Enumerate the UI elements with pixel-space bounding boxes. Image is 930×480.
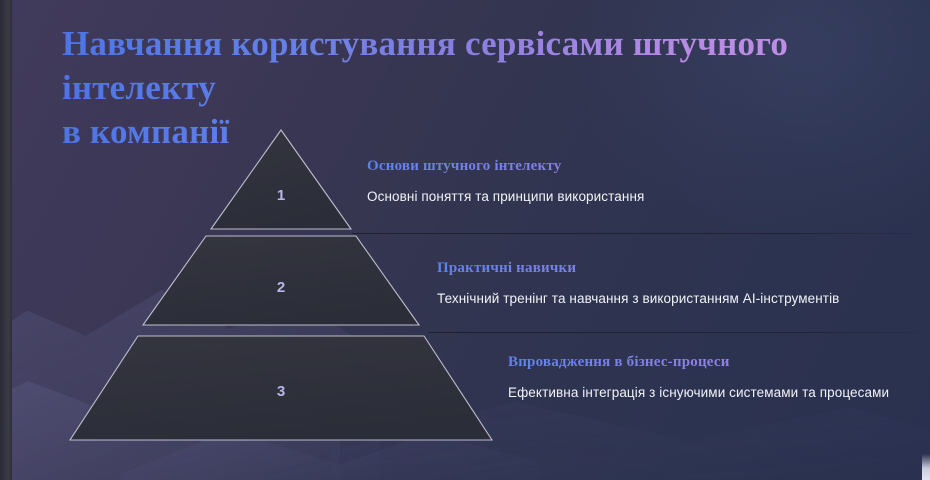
page-title: Навчання користування сервісами штучного… [62, 22, 924, 154]
mountain-silhouette-2 [0, 330, 340, 480]
level-1-text-block: Основи штучного інтелекту Основні понятт… [367, 156, 887, 208]
level-3-body: Ефективна інтеграція з існуючими система… [508, 382, 908, 404]
divider-level-1 [352, 233, 918, 234]
pyramid-tier-3-number: 3 [277, 383, 285, 400]
mountain-silhouette-1 [0, 260, 380, 480]
level-3-heading: Впровадження в бізнес-процеси [508, 352, 908, 372]
window-frame-bottom-right-corner [922, 454, 930, 480]
level-3-text-block: Впровадження в бізнес-процеси Ефективна … [508, 352, 908, 404]
pyramid-tier-1-number: 1 [277, 187, 285, 204]
level-1-heading: Основи штучного інтелекту [367, 156, 887, 176]
window-frame-left-edge [0, 0, 12, 480]
divider-level-2 [428, 332, 918, 333]
mountain-silhouette-3 [120, 390, 540, 480]
slide-canvas: 1 2 3 Навчання користування сервісами шт… [0, 0, 930, 480]
pyramid-tier-3-shape [70, 336, 492, 440]
pyramid-tier-2-number: 2 [277, 279, 285, 296]
level-2-text-block: Практичні навички Технічний тренінг та н… [437, 258, 907, 310]
pyramid-tier-2-shape [143, 236, 419, 325]
level-1-body: Основні поняття та принципи використання [367, 186, 887, 208]
level-2-heading: Практичні навички [437, 258, 907, 278]
level-2-body: Технічний тренінг та навчання з використ… [437, 288, 907, 310]
